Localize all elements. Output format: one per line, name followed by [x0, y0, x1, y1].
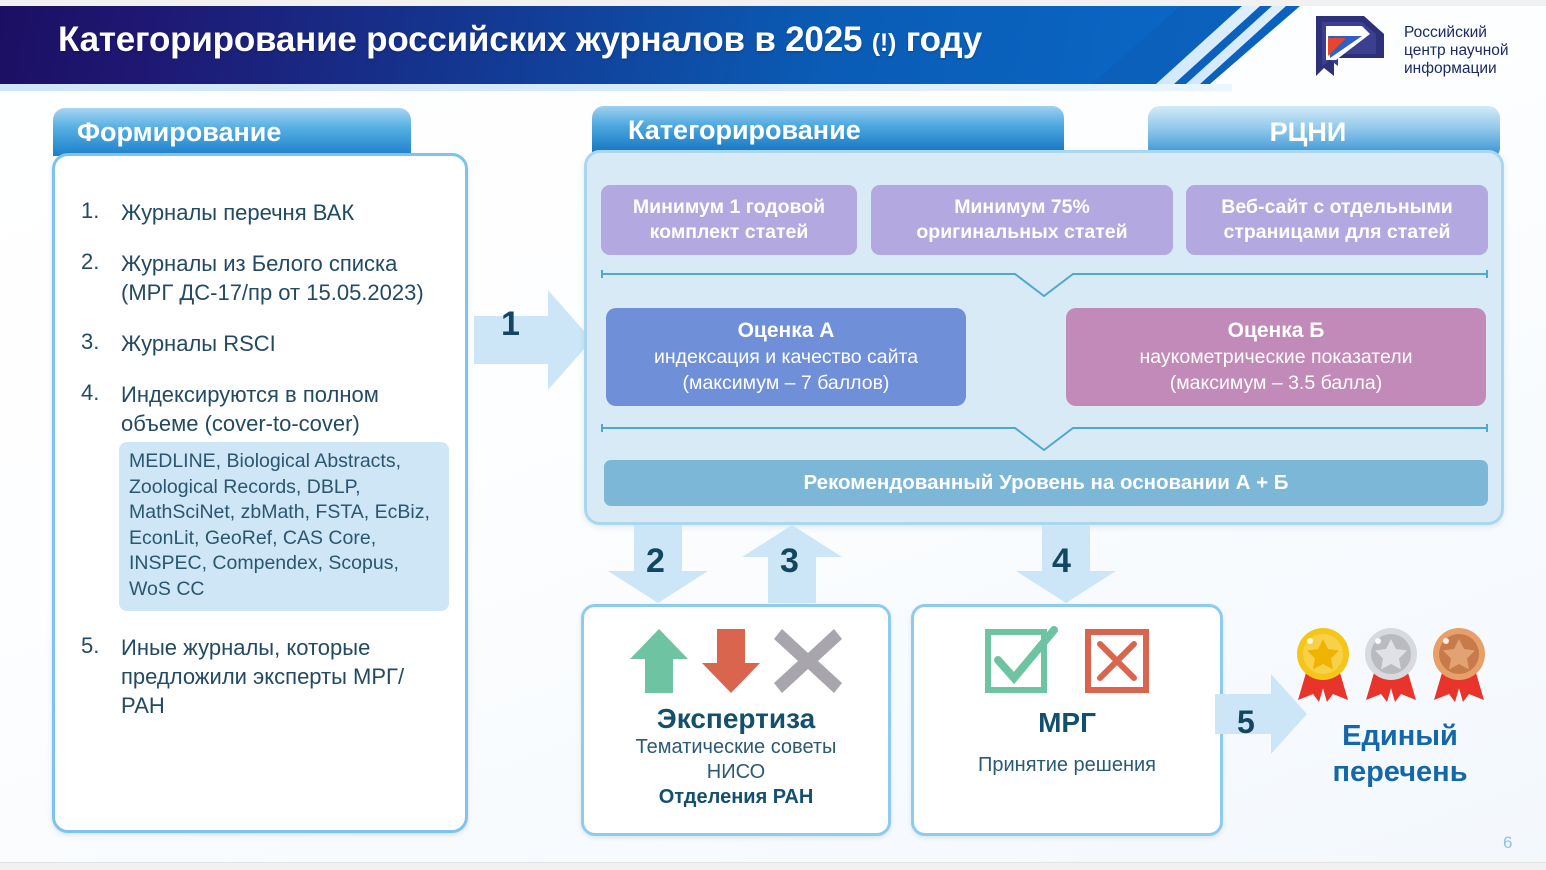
checkbox-checked-icon [984, 626, 1058, 696]
final-label-line-2: перечень [1286, 754, 1514, 790]
bronze-medal-icon [1428, 626, 1490, 702]
connector-line-scores [601, 418, 1488, 452]
checkbox-crossed-icon [1084, 626, 1150, 696]
list-item: 5. Иные журналы, которые предложили эксп… [81, 633, 445, 720]
mrg-title: МРГ [1038, 707, 1096, 739]
list-item: 4. Индексируются в полном объеме (cover-… [81, 380, 445, 611]
silver-medal-icon [1360, 626, 1422, 702]
tab-categorization[interactable]: Категорирование [592, 106, 1064, 154]
logo-line-3: информации [1404, 60, 1509, 78]
arrow-3-number: 3 [780, 542, 799, 581]
expertise-icon-row [628, 625, 844, 697]
list-item: 2. Журналы из Белого списка (МРГ ДС-17/п… [81, 249, 445, 307]
mrg-icon-row [984, 625, 1150, 697]
arrow-2-number: 2 [646, 542, 665, 581]
arrow-5-number: 5 [1237, 704, 1255, 741]
card-expertise: Экспертиза Тематические советы НИСО Отде… [581, 604, 891, 836]
score-a-title: Оценка А [738, 318, 835, 344]
rcni-logo: Российский центр научной информации [1312, 14, 1537, 90]
tab-categorization-label: Категорирование [628, 115, 861, 146]
list-item: 3. Журналы RSCI [81, 329, 445, 358]
list-item-label: Журналы перечня ВАК [121, 198, 354, 227]
final-label-line-1: Единый [1286, 718, 1514, 754]
arrow-1-icon [474, 286, 592, 394]
list-item-label: Журналы RSCI [121, 329, 276, 358]
gold-medal-icon [1292, 626, 1354, 702]
mrg-sub-1: Принятие решения [978, 753, 1156, 778]
list-item-label: Индексируются в полном объеме (cover-to-… [121, 382, 379, 436]
page-title-tail: году [906, 20, 982, 59]
expertise-title: Экспертиза [657, 703, 815, 735]
tab-rcni-label: РЦНИ [1270, 117, 1347, 148]
rcni-logo-text: Российский центр научной информации [1404, 24, 1509, 78]
logo-line-2: центр научной [1404, 42, 1509, 60]
cross-icon [772, 627, 844, 695]
list-item-number: 1. [81, 198, 121, 227]
score-b-sub-1: наукометрические показатели [1140, 344, 1413, 370]
tab-formation[interactable]: Формирование [53, 108, 411, 156]
logo-line-1: Российский [1404, 24, 1509, 42]
page-title-main: Категорирование российских журналов в 20… [58, 20, 862, 59]
criteria-box-3: Веб-сайт с отдельными страницами для ста… [1186, 185, 1488, 255]
down-arrow-icon [700, 627, 762, 695]
list-item-number: 4. [81, 380, 121, 611]
score-a-sub-1: индексация и качество сайта [654, 344, 918, 370]
expertise-sub-3: Отделения РАН [659, 785, 814, 810]
expertise-sub-2: НИСО [707, 760, 765, 785]
slide-header: Категорирование российских журналов в 20… [0, 6, 1546, 90]
up-arrow-icon [628, 627, 690, 695]
list-item-number: 3. [81, 329, 121, 358]
score-a-box: Оценка А индексация и качество сайта (ма… [606, 308, 966, 406]
header-underline [0, 84, 1232, 91]
expertise-sub-1: Тематические советы [636, 735, 837, 760]
rcni-logo-icon [1312, 14, 1390, 86]
medals-row [1292, 626, 1492, 702]
page-number: 6 [1503, 833, 1512, 853]
formation-list: 1. Журналы перечня ВАК 2. Журналы из Бел… [81, 198, 445, 742]
criteria-box-2: Минимум 75% оригинальных статей [871, 185, 1173, 255]
recommended-level-box: Рекомендованный Уровень на основании А +… [604, 460, 1488, 506]
list-item-label: Иные журналы, которые предложили эксперт… [121, 633, 445, 720]
connector-line-criteria [601, 264, 1488, 298]
score-a-sub-2: (максимум – 7 баллов) [683, 370, 890, 396]
arrow-4-number: 4 [1052, 542, 1071, 581]
final-list-label: Единый перечень [1286, 718, 1514, 790]
page-title: Категорирование российских журналов в 20… [58, 20, 982, 60]
bottom-rule [0, 862, 1546, 870]
criteria-box-1: Минимум 1 годовой комплект статей [601, 185, 857, 255]
slide-root: Категорирование российских журналов в 20… [0, 0, 1546, 870]
page-title-exclamation: (!) [872, 29, 896, 57]
card-mrg: МРГ Принятие решения [911, 604, 1223, 836]
panel-formation: 1. Журналы перечня ВАК 2. Журналы из Бел… [52, 153, 468, 833]
list-item-number: 2. [81, 249, 121, 307]
list-item-label: Журналы из Белого списка (МРГ ДС-17/пр о… [121, 249, 445, 307]
score-b-title: Оценка Б [1228, 318, 1325, 344]
list-item: 1. Журналы перечня ВАК [81, 198, 445, 227]
database-list: MEDLINE, Biological Abstracts, Zoologica… [119, 442, 449, 611]
score-b-box: Оценка Б наукометрические показатели (ма… [1066, 308, 1486, 406]
score-b-sub-2: (максимум – 3.5 балла) [1170, 370, 1383, 396]
tab-formation-label: Формирование [77, 117, 281, 148]
list-item-number: 5. [81, 633, 121, 720]
arrow-1-number: 1 [501, 305, 520, 344]
